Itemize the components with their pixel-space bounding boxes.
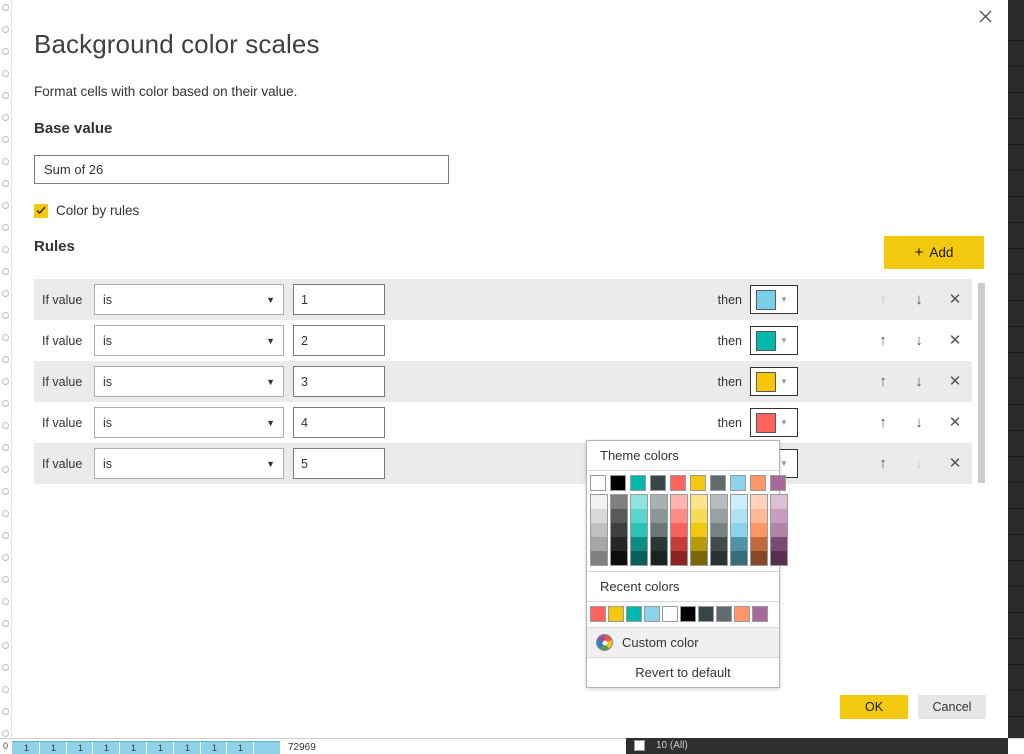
- ruler-tick: [2, 356, 9, 363]
- recent-color-swatch[interactable]: [626, 606, 642, 622]
- rule-color-button[interactable]: ▼: [750, 367, 798, 396]
- theme-shade-swatch[interactable]: [671, 509, 687, 523]
- chevron-down-icon: ▼: [266, 295, 275, 305]
- rule-color-swatch: [756, 290, 776, 310]
- background-row-line: [1008, 92, 1024, 93]
- move-down-icon[interactable]: ↓: [912, 374, 926, 389]
- theme-shade-swatch[interactable]: [691, 523, 707, 537]
- theme-shade-swatch[interactable]: [591, 537, 607, 551]
- background-row-line: [1008, 560, 1024, 561]
- background-bar-chart: 111111111: [12, 741, 280, 754]
- bar-separator: [39, 742, 40, 754]
- plus-icon: +: [915, 245, 924, 260]
- bar-separator: [226, 742, 227, 754]
- background-row-line: [1008, 248, 1024, 249]
- delete-rule-icon[interactable]: ✕: [948, 333, 962, 348]
- background-row-line: [1008, 638, 1024, 639]
- then-label: then: [718, 334, 750, 348]
- theme-shade-swatch[interactable]: [631, 551, 647, 565]
- background-row-line: [1008, 716, 1024, 717]
- theme-shade-swatch[interactable]: [651, 495, 667, 509]
- theme-shade-column: [710, 494, 728, 566]
- rule-operator-select[interactable]: is▼: [94, 448, 284, 479]
- rule-operator-select[interactable]: is▼: [94, 284, 284, 315]
- background-row-line: [1008, 586, 1024, 587]
- theme-shade-swatch[interactable]: [711, 537, 727, 551]
- ruler-tick: [2, 180, 9, 187]
- rule-value-input[interactable]: [293, 448, 385, 479]
- theme-shade-swatch[interactable]: [731, 551, 747, 565]
- theme-shade-swatch[interactable]: [771, 523, 787, 537]
- rule-operator-value: is: [103, 375, 112, 389]
- rules-scrollbar-thumb[interactable]: [978, 283, 985, 483]
- theme-color-column: [670, 475, 688, 566]
- background-row-line: [1008, 534, 1024, 535]
- theme-shade-swatch[interactable]: [611, 523, 627, 537]
- ok-button[interactable]: OK: [840, 695, 908, 719]
- ruler-tick: [2, 444, 9, 451]
- background-row-line: [1008, 222, 1024, 223]
- ruler-tick: [2, 598, 9, 605]
- theme-shade-swatch[interactable]: [611, 495, 627, 509]
- rule-color-swatch: [756, 331, 776, 351]
- row-actions: ↑↓✕: [876, 333, 972, 348]
- close-icon[interactable]: [970, 2, 1000, 30]
- ruler-tick: [2, 158, 9, 165]
- theme-shade-swatch[interactable]: [751, 537, 767, 551]
- theme-color-column: [770, 475, 788, 566]
- chevron-down-icon: ▼: [780, 377, 788, 386]
- background-row-line: [1008, 326, 1024, 327]
- table-row: If valueis▼then▼↑↓✕: [34, 402, 972, 443]
- bar-separator: [173, 742, 174, 754]
- theme-color-swatch[interactable]: [650, 475, 666, 491]
- move-up-icon[interactable]: ↑: [876, 456, 890, 471]
- theme-shade-swatch[interactable]: [631, 509, 647, 523]
- theme-shade-swatch[interactable]: [691, 551, 707, 565]
- background-row-line: [1008, 300, 1024, 301]
- checkmark-icon: [34, 204, 48, 218]
- delete-rule-icon[interactable]: ✕: [948, 292, 962, 307]
- background-row-line: [1008, 430, 1024, 431]
- theme-colors-label: Theme colors: [587, 441, 779, 471]
- background-row-line: [1008, 66, 1024, 67]
- ruler-tick: [2, 70, 9, 77]
- background-row-line: [1008, 144, 1024, 145]
- ruler-tick: [2, 136, 9, 143]
- row-actions: ↑↓✕: [876, 415, 972, 430]
- row-actions: ↑↓✕: [876, 292, 972, 307]
- theme-color-swatch[interactable]: [590, 475, 606, 491]
- ruler-tick: [2, 26, 9, 33]
- theme-shade-swatch[interactable]: [711, 495, 727, 509]
- recent-color-swatch[interactable]: [608, 606, 624, 622]
- theme-color-swatch[interactable]: [770, 475, 786, 491]
- theme-shade-swatch[interactable]: [691, 537, 707, 551]
- rule-value-input[interactable]: [293, 284, 385, 315]
- chevron-down-icon: ▼: [266, 418, 275, 428]
- background-total-value: 72969: [288, 742, 316, 753]
- ruler-tick: [2, 202, 9, 209]
- theme-shade-swatch[interactable]: [751, 509, 767, 523]
- chevron-down-icon: ▼: [780, 459, 788, 468]
- rule-color-button[interactable]: ▼: [750, 285, 798, 314]
- recent-color-swatch[interactable]: [662, 606, 678, 622]
- bar-tick-label: 1: [212, 743, 217, 753]
- chevron-down-icon: ▼: [780, 336, 788, 345]
- theme-shade-swatch[interactable]: [591, 509, 607, 523]
- theme-color-column: [650, 475, 668, 566]
- bar-separator: [66, 742, 67, 754]
- theme-color-swatch[interactable]: [710, 475, 726, 491]
- row-actions: ↑↓✕: [876, 456, 972, 471]
- ruler-tick: [2, 730, 9, 737]
- ruler-tick: [2, 576, 9, 583]
- theme-shade-swatch[interactable]: [611, 537, 627, 551]
- recent-color-swatch[interactable]: [734, 606, 750, 622]
- ruler-tick: [2, 246, 9, 253]
- rule-value-input[interactable]: [293, 366, 385, 397]
- theme-color-swatch[interactable]: [690, 475, 706, 491]
- theme-shade-column: [630, 494, 648, 566]
- base-value-label: Base value: [34, 120, 112, 137]
- rule-operator-select[interactable]: is▼: [94, 366, 284, 397]
- bar-separator: [146, 742, 147, 754]
- add-button-label: Add: [929, 245, 953, 260]
- chevron-down-icon: ▼: [780, 295, 788, 304]
- theme-color-swatch[interactable]: [630, 475, 646, 491]
- background-bottom-panel: 10 (All): [626, 737, 1008, 754]
- ruler-tick: [2, 664, 9, 671]
- theme-shade-swatch[interactable]: [651, 523, 667, 537]
- color-picker-flyout: Theme colors Recent colors Custom color …: [586, 440, 780, 688]
- delete-rule-icon[interactable]: ✕: [948, 415, 962, 430]
- theme-color-swatch[interactable]: [670, 475, 686, 491]
- chevron-down-icon: ▼: [266, 336, 275, 346]
- ruler-tick: [2, 334, 9, 341]
- theme-shade-swatch[interactable]: [671, 537, 687, 551]
- screen: 0 111111111 72969 10 (All) Background co…: [0, 0, 1024, 754]
- theme-color-swatch[interactable]: [730, 475, 746, 491]
- background-row-line: [1008, 40, 1024, 41]
- theme-shade-swatch[interactable]: [691, 509, 707, 523]
- bar-tick-label: 1: [158, 743, 163, 753]
- theme-shade-swatch[interactable]: [771, 495, 787, 509]
- ruler-tick: [2, 290, 9, 297]
- rule-operator-select[interactable]: is▼: [94, 325, 284, 356]
- cancel-button[interactable]: Cancel: [918, 695, 986, 719]
- move-down-icon[interactable]: ↓: [912, 415, 926, 430]
- theme-shade-column: [670, 494, 688, 566]
- ruler-tick: [2, 510, 9, 517]
- bar-tick-label: 1: [24, 743, 29, 753]
- ruler-tick: [2, 686, 9, 693]
- theme-shade-swatch[interactable]: [771, 537, 787, 551]
- move-up-icon[interactable]: ↑: [876, 333, 890, 348]
- rule-color-button[interactable]: ▼: [750, 326, 798, 355]
- bar-tick-label: 1: [185, 743, 190, 753]
- theme-shade-swatch[interactable]: [711, 509, 727, 523]
- delete-rule-icon[interactable]: ✕: [948, 456, 962, 471]
- ruler-tick: [2, 400, 9, 407]
- ruler-tick: [2, 620, 9, 627]
- chevron-down-icon: ▼: [266, 377, 275, 387]
- theme-color-column: [710, 475, 728, 566]
- theme-shade-column: [750, 494, 768, 566]
- dialog-subtitle: Format cells with color based on their v…: [34, 84, 297, 99]
- if-value-label: If value: [34, 457, 94, 471]
- background-left-ruler: [0, 0, 12, 738]
- rules-list: If valueis▼then▼↑↓✕If valueis▼then▼↑↓✕If…: [34, 279, 984, 487]
- move-down-icon: ↓: [912, 456, 926, 471]
- theme-shade-swatch[interactable]: [671, 495, 687, 509]
- theme-shade-swatch[interactable]: [731, 509, 747, 523]
- ruler-tick: [2, 114, 9, 121]
- table-row: If valueis▼then▼↑↓✕: [34, 279, 972, 320]
- background-row-line: [1008, 612, 1024, 613]
- ruler-tick: [2, 532, 9, 539]
- rule-color-swatch: [756, 413, 776, 433]
- theme-color-swatch[interactable]: [750, 475, 766, 491]
- move-down-icon[interactable]: ↓: [912, 333, 926, 348]
- if-value-label: If value: [34, 416, 94, 430]
- theme-shade-swatch[interactable]: [631, 523, 647, 537]
- theme-shade-swatch[interactable]: [731, 495, 747, 509]
- theme-color-column: [610, 475, 628, 566]
- background-row-line: [1008, 170, 1024, 171]
- table-row: If valueis▼then▼↑↓✕: [34, 320, 972, 361]
- theme-shade-swatch[interactable]: [731, 537, 747, 551]
- theme-shade-column: [690, 494, 708, 566]
- bar-separator: [119, 742, 120, 754]
- background-row-line: [1008, 508, 1024, 509]
- recent-color-swatch[interactable]: [752, 606, 768, 622]
- theme-shade-swatch[interactable]: [771, 551, 787, 565]
- base-value-input[interactable]: [34, 155, 449, 184]
- chevron-down-icon: ▼: [266, 459, 275, 469]
- recent-color-swatch[interactable]: [716, 606, 732, 622]
- theme-shade-swatch[interactable]: [591, 495, 607, 509]
- table-row: If valueis▼then▼↑↓✕: [34, 443, 972, 484]
- background-panel-label: 10 (All): [656, 740, 688, 751]
- background-row-line: [1008, 404, 1024, 405]
- theme-shade-swatch[interactable]: [631, 537, 647, 551]
- background-row-line: [1008, 690, 1024, 691]
- ruler-tick: [2, 268, 9, 275]
- bar-tick-label: 1: [131, 743, 136, 753]
- theme-shade-column: [730, 494, 748, 566]
- bar-separator: [253, 742, 254, 754]
- color-by-rules-checkbox[interactable]: Color by rules: [34, 203, 139, 218]
- background-row-line: [1008, 456, 1024, 457]
- ruler-tick: [2, 312, 9, 319]
- rule-value-input[interactable]: [293, 407, 385, 438]
- background-row-line: [1008, 664, 1024, 665]
- move-up-icon: ↑: [876, 292, 890, 307]
- if-value-label: If value: [34, 293, 94, 307]
- ruler-tick: [2, 92, 9, 99]
- theme-shade-swatch[interactable]: [651, 551, 667, 565]
- if-value-label: If value: [34, 334, 94, 348]
- theme-color-column: [630, 475, 648, 566]
- theme-shade-swatch[interactable]: [691, 495, 707, 509]
- background-row-line: [1008, 274, 1024, 275]
- ruler-tick: [2, 708, 9, 715]
- background-row-line: [1008, 378, 1024, 379]
- bar-tick-label: 1: [104, 743, 109, 753]
- then-label: then: [718, 375, 750, 389]
- theme-shade-swatch[interactable]: [611, 551, 627, 565]
- recent-color-swatch[interactable]: [590, 606, 606, 622]
- move-down-icon[interactable]: ↓: [912, 292, 926, 307]
- background-right-panel: [1008, 0, 1024, 754]
- recent-colors-label: Recent colors: [587, 572, 779, 602]
- rule-operator-value: is: [103, 293, 112, 307]
- theme-shade-swatch[interactable]: [731, 523, 747, 537]
- rule-color-swatch: [756, 372, 776, 392]
- rule-value-input[interactable]: [293, 325, 385, 356]
- ruler-tick: [2, 488, 9, 495]
- theme-shade-swatch[interactable]: [611, 509, 627, 523]
- theme-shade-column: [590, 494, 608, 566]
- theme-shade-swatch[interactable]: [591, 523, 607, 537]
- add-rule-button[interactable]: + Add: [884, 236, 984, 269]
- table-row: If valueis▼then▼↑↓✕: [34, 361, 972, 402]
- ruler-tick: [2, 466, 9, 473]
- theme-shade-column: [610, 494, 628, 566]
- theme-shade-swatch[interactable]: [671, 523, 687, 537]
- ruler-tick: [2, 642, 9, 649]
- ruler-tick: [2, 378, 9, 385]
- then-label: then: [718, 293, 750, 307]
- theme-shade-column: [650, 494, 668, 566]
- recent-color-swatch[interactable]: [644, 606, 660, 622]
- bar-separator: [92, 742, 93, 754]
- theme-shade-swatch[interactable]: [751, 551, 767, 565]
- delete-rule-icon[interactable]: ✕: [948, 374, 962, 389]
- if-value-label: If value: [34, 375, 94, 389]
- background-row-line: [1008, 118, 1024, 119]
- color-wheel-icon: [596, 634, 613, 651]
- rule-operator-value: is: [103, 457, 112, 471]
- theme-shade-swatch[interactable]: [591, 551, 607, 565]
- recent-color-swatch[interactable]: [698, 606, 714, 622]
- background-checkbox: [634, 740, 645, 751]
- move-up-icon[interactable]: ↑: [876, 415, 890, 430]
- background-color-scales-dialog: Background color scales Format cells wit…: [12, 0, 1008, 738]
- rule-operator-value: is: [103, 416, 112, 430]
- theme-shade-swatch[interactable]: [751, 523, 767, 537]
- ruler-tick: [2, 422, 9, 429]
- bar-separator: [200, 742, 201, 754]
- theme-color-swatch[interactable]: [610, 475, 626, 491]
- background-row-line: [1008, 482, 1024, 483]
- revert-to-default-button[interactable]: Revert to default: [587, 657, 779, 687]
- custom-color-button[interactable]: Custom color: [587, 627, 779, 657]
- chevron-down-icon: ▼: [780, 418, 788, 427]
- bar-tick-label: 1: [78, 743, 83, 753]
- rules-scrollbar[interactable]: [978, 283, 985, 483]
- theme-color-column: [750, 475, 768, 566]
- color-by-rules-label: Color by rules: [56, 203, 139, 218]
- recent-color-swatch[interactable]: [680, 606, 696, 622]
- recent-colors-grid: [587, 602, 779, 627]
- theme-colors-grid: [587, 471, 779, 571]
- background-row-line: [1008, 196, 1024, 197]
- theme-shade-swatch[interactable]: [631, 495, 647, 509]
- ruler-tick: [2, 4, 9, 11]
- theme-shade-swatch[interactable]: [771, 509, 787, 523]
- ruler-tick: [2, 48, 9, 55]
- theme-shade-swatch[interactable]: [671, 551, 687, 565]
- theme-shade-swatch[interactable]: [651, 537, 667, 551]
- theme-color-column: [690, 475, 708, 566]
- theme-color-column: [590, 475, 608, 566]
- rule-color-button[interactable]: ▼: [750, 408, 798, 437]
- row-actions: ↑↓✕: [876, 374, 972, 389]
- page-title: Background color scales: [34, 29, 320, 60]
- then-label: then: [718, 416, 750, 430]
- theme-shade-swatch[interactable]: [711, 551, 727, 565]
- rules-label: Rules: [34, 238, 75, 255]
- bar-tick-label: 1: [238, 743, 243, 753]
- rule-operator-value: is: [103, 334, 112, 348]
- ruler-tick: [2, 224, 9, 231]
- rule-operator-select[interactable]: is▼: [94, 407, 284, 438]
- background-row-line: [1008, 352, 1024, 353]
- background-axis-zero: 0: [3, 741, 8, 751]
- theme-shade-swatch[interactable]: [711, 523, 727, 537]
- custom-color-label: Custom color: [622, 635, 699, 650]
- ruler-tick: [2, 554, 9, 561]
- move-up-icon[interactable]: ↑: [876, 374, 890, 389]
- theme-shade-swatch[interactable]: [651, 509, 667, 523]
- theme-color-column: [730, 475, 748, 566]
- theme-shade-swatch[interactable]: [751, 495, 767, 509]
- theme-shade-column: [770, 494, 788, 566]
- bar-tick-label: 1: [51, 743, 56, 753]
